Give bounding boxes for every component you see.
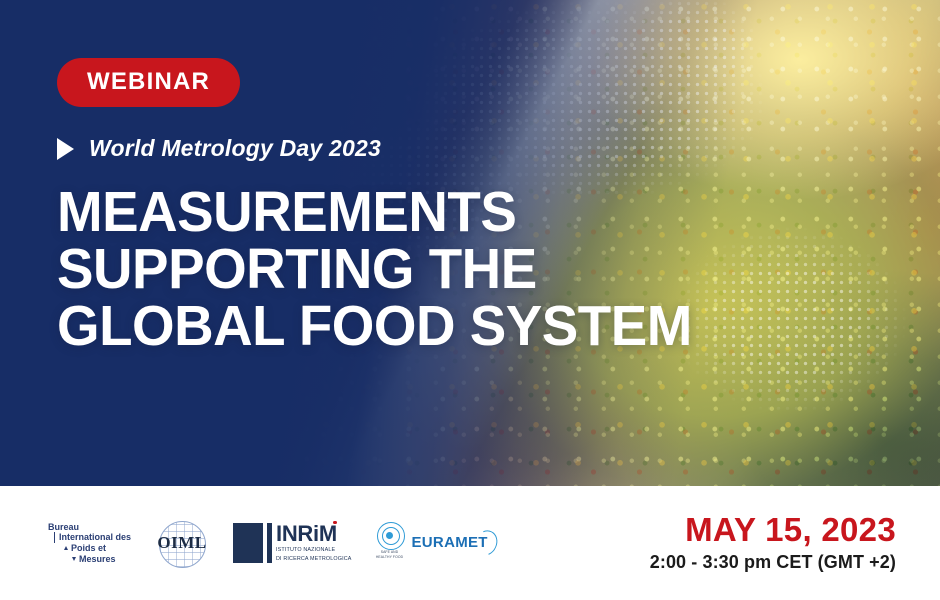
event-time: 2:00 - 3:30 pm CET (GMT +2) — [650, 552, 896, 573]
bipm-arrow-up-icon — [64, 546, 68, 550]
inrim-subtitle-line-2: DI RICERCA METROLOGICA — [276, 556, 351, 563]
headline-line-3: GLOBAL FOOD SYSTEM — [57, 298, 729, 355]
inrim-wordmark: INRiM — [276, 521, 337, 546]
inrim-subtitle-line-1: ISTITUTO NAZIONALE — [276, 547, 351, 554]
bipm-line-4: Mesures — [79, 554, 116, 565]
play-triangle-icon — [57, 138, 74, 160]
bipm-line-3: Poids et — [71, 543, 106, 554]
event-name-label: World Metrology Day 2023 — [89, 135, 381, 162]
euramet-arc-icon — [470, 527, 501, 560]
inrim-square-icon — [233, 523, 263, 563]
euramet-core-icon — [386, 532, 393, 539]
euramet-logo: SAFE AND HEALTHY FOOD EURAMET — [374, 522, 497, 564]
bipm-line-1: Bureau — [48, 522, 79, 533]
page-title: MEASUREMENTS SUPPORTING THE GLOBAL FOOD … — [57, 184, 729, 355]
event-date: MAY 15, 2023 — [650, 513, 896, 548]
inrim-bar-icon — [267, 523, 272, 563]
inrim-logo: INRiM ISTITUTO NAZIONALE DI RICERCA METR… — [233, 523, 351, 563]
headline-line-1: MEASUREMENTS — [57, 184, 729, 241]
bipm-logo: Bureau International des Poids et Mesure… — [48, 522, 131, 565]
hero-section: WEBINAR World Metrology Day 2023 MEASURE… — [0, 0, 940, 486]
bipm-line-2: International des — [59, 532, 131, 543]
eyebrow-row: World Metrology Day 2023 — [57, 135, 757, 162]
footer-bar: Bureau International des Poids et Mesure… — [0, 486, 940, 600]
headline-line-2: SUPPORTING THE — [57, 241, 729, 298]
euramet-caption-line-2: HEALTHY FOOD — [376, 555, 403, 559]
partner-logo-strip: Bureau International des Poids et Mesure… — [0, 518, 497, 568]
oiml-wordmark: OIML — [153, 533, 211, 553]
euramet-caption-line-1: SAFE AND — [381, 550, 399, 554]
inrim-red-dot-icon — [333, 521, 337, 525]
webinar-badge: WEBINAR — [57, 58, 240, 107]
euramet-emblem-icon: SAFE AND HEALTHY FOOD — [374, 522, 406, 564]
bipm-tick-icon — [54, 532, 55, 543]
webinar-banner: WEBINAR World Metrology Day 2023 MEASURE… — [0, 0, 940, 600]
event-date-block: MAY 15, 2023 2:00 - 3:30 pm CET (GMT +2) — [650, 513, 940, 574]
hero-content: WEBINAR World Metrology Day 2023 MEASURE… — [57, 0, 757, 355]
oiml-logo: OIML — [153, 518, 211, 568]
bipm-arrow-down-icon — [72, 557, 76, 561]
